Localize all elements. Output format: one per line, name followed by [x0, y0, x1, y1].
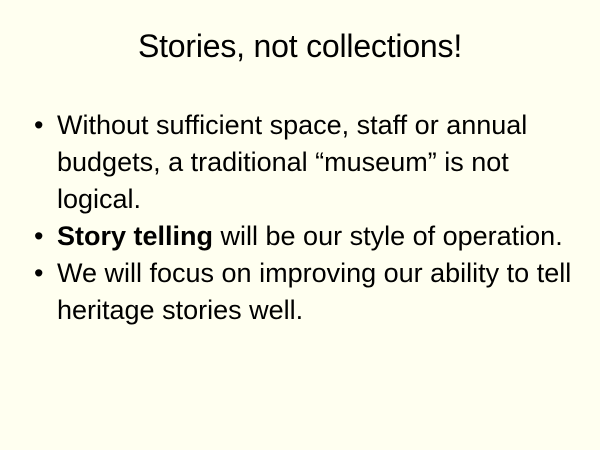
list-item-bold-run: Story telling [57, 221, 213, 251]
list-item-regular-run: We will focus on improving our ability t… [57, 258, 571, 325]
bullet-point-icon: • [34, 218, 50, 255]
list-item: • We will focus on improving our ability… [26, 255, 578, 329]
list-item-text: We will focus on improving our ability t… [57, 255, 578, 329]
list-item-text: Story telling will be our style of opera… [57, 218, 578, 255]
bullet-point-icon: • [34, 255, 50, 292]
bullet-point-icon: • [34, 107, 50, 144]
list-item-regular-run: will be our style of operation. [213, 221, 563, 251]
slide-canvas: Stories, not collections! • Without suff… [0, 0, 600, 450]
list-item-text: Without sufficient space, staff or annua… [57, 107, 578, 218]
bullet-list: • Without sufficient space, staff or ann… [26, 107, 578, 329]
page-title: Stories, not collections! [0, 26, 600, 66]
list-item-regular-run: Without sufficient space, staff or annua… [57, 110, 527, 214]
list-item: • Story telling will be our style of ope… [26, 218, 578, 255]
list-item: • Without sufficient space, staff or ann… [26, 107, 578, 218]
